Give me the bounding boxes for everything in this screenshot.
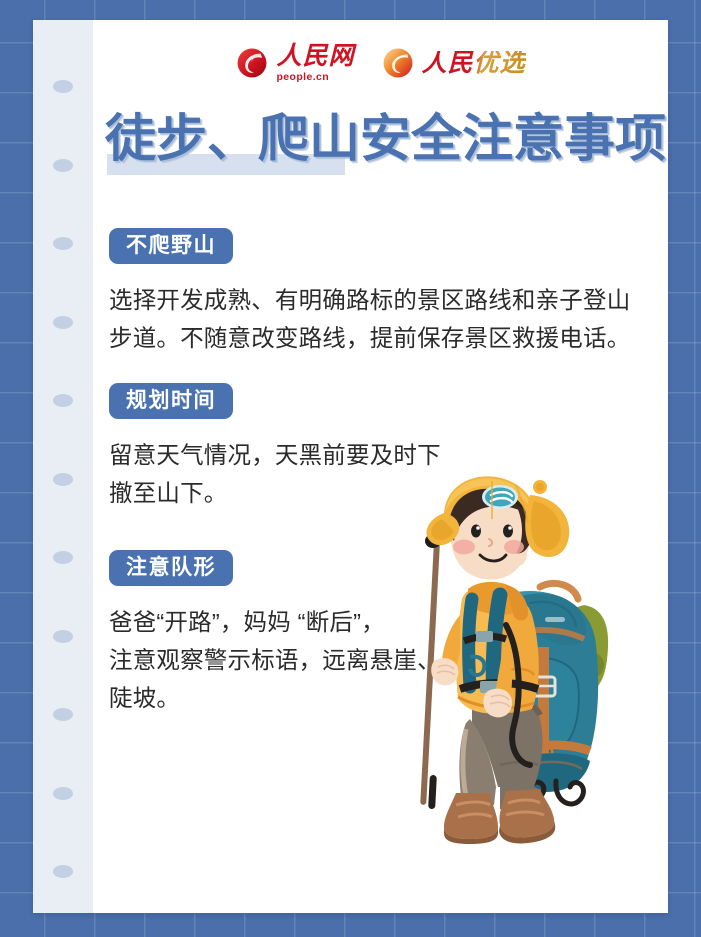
punch-hole (53, 237, 73, 250)
section-body-text: 爸爸“开路”，妈妈 “断后”， 注意观察警示标语，远离悬崖、 陡坡。 (109, 603, 657, 717)
section-formation: 注意队形 爸爸“开路”，妈妈 “断后”， 注意观察警示标语，远离悬崖、 陡坡。 (109, 550, 657, 717)
title-text: 徒步、爬山安全注意事项 (105, 103, 665, 175)
people-cn-wordmark: 人民网 people.cn (276, 44, 354, 83)
notebook-margin-strip (33, 20, 93, 913)
punch-hole (53, 630, 73, 643)
notebook-card: 人民网 people.cn 人民优选 徒步、爬山安全注 (33, 20, 668, 913)
punch-hole (53, 316, 73, 329)
renmin-youxuan-chinese-text: 人民优选 (422, 51, 526, 76)
people-cn-globe-icon (235, 46, 269, 80)
section-body-text: 选择开发成熟、有明确路标的景区路线和亲子登山 步道。不随意改变路线，提前保存景区… (109, 281, 657, 357)
renmin-youxuan-globe-icon (381, 46, 415, 80)
punch-hole (53, 473, 73, 486)
punch-hole (53, 865, 73, 878)
section-badge: 注意队形 (109, 550, 233, 586)
section-no-wild-mountains: 不爬野山 选择开发成熟、有明确路标的景区路线和亲子登山 步道。不随意改变路线，提… (109, 228, 657, 357)
people-cn-logo: 人民网 people.cn (235, 44, 354, 83)
poster-root: 人民网 people.cn 人民优选 徒步、爬山安全注 (0, 0, 701, 937)
punch-hole (53, 80, 73, 93)
people-cn-domain-text: people.cn (276, 72, 329, 83)
punch-hole (53, 159, 73, 172)
punch-hole (53, 394, 73, 407)
section-plan-time: 规划时间 留意天气情况，天黑前要及时下 撤至山下。 (109, 383, 657, 512)
section-badge: 不爬野山 (109, 228, 233, 264)
punch-hole (53, 708, 73, 721)
punch-hole (53, 551, 73, 564)
section-badge: 规划时间 (109, 383, 233, 419)
punch-hole (53, 787, 73, 800)
renmin-youxuan-wordmark: 人民优选 (422, 51, 526, 76)
renmin-youxuan-logo: 人民优选 (381, 46, 526, 80)
page-title: 徒步、爬山安全注意事项 (105, 103, 665, 175)
branding-logo-row: 人民网 people.cn 人民优选 (93, 38, 668, 88)
content-column: 人民网 people.cn 人民优选 徒步、爬山安全注 (93, 20, 668, 913)
section-body-text: 留意天气情况，天黑前要及时下 撤至山下。 (109, 436, 657, 512)
people-cn-chinese-text: 人民网 (276, 44, 354, 69)
